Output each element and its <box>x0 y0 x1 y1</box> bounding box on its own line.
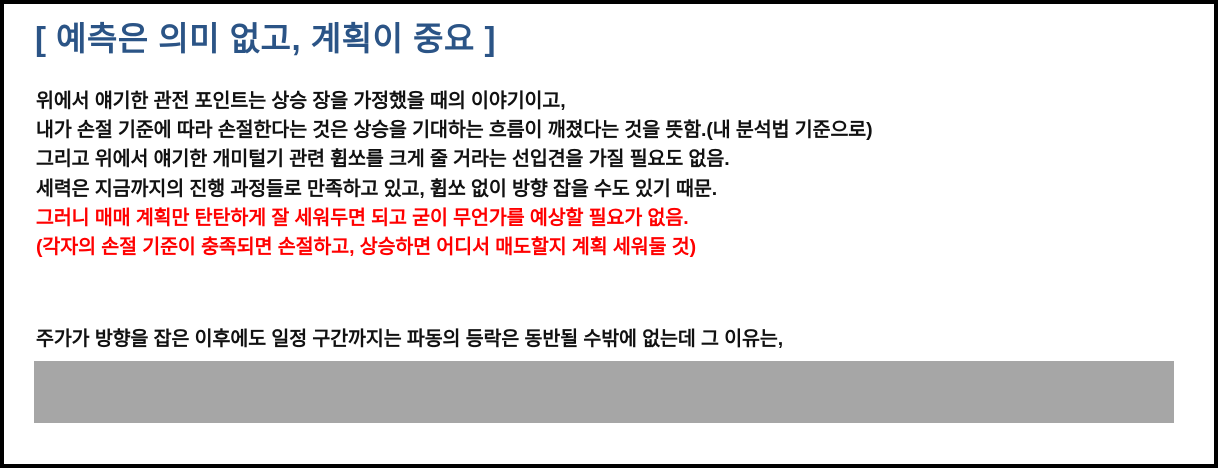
screenshot-frame: [ 예측은 의미 없고, 계획이 중요 ] 위에서 얘기한 관전 포인트는 상승… <box>0 0 1218 468</box>
body-line: 위에서 얘기한 관전 포인트는 상승 장을 가정했을 때의 이야기이고, <box>36 87 1186 116</box>
page-title: [ 예측은 의미 없고, 계획이 중요 ] <box>35 21 496 57</box>
body-line-emphasis: (각자의 손절 기준이 충족되면 손절하고, 상승하면 어디서 매도할지 계획 … <box>36 233 1186 262</box>
closing-line: 주가가 방향을 잡은 이후에도 일정 구간까지는 파동의 등락은 동반될 수밖에… <box>36 324 1186 355</box>
closing-paragraph: 주가가 방향을 잡은 이후에도 일정 구간까지는 파동의 등락은 동반될 수밖에… <box>36 324 1186 355</box>
document-page: [ 예측은 의미 없고, 계획이 중요 ] 위에서 얘기한 관전 포인트는 상승… <box>4 4 1214 464</box>
redacted-content-bar <box>34 361 1174 423</box>
body-line: 그리고 위에서 얘기한 개미털기 관련 휩쏘를 크게 줄 거라는 선입견을 가질… <box>36 145 1186 174</box>
body-line: 내가 손절 기준에 따라 손절한다는 것은 상승을 기대하는 흐름이 깨졌다는 … <box>36 116 1186 145</box>
body-line: 세력은 지금까지의 진행 과정들로 만족하고 있고, 휩쏘 없이 방향 잡을 수… <box>36 175 1186 204</box>
body-paragraph: 위에서 얘기한 관전 포인트는 상승 장을 가정했을 때의 이야기이고, 내가 … <box>36 87 1186 262</box>
body-line-emphasis: 그러니 매매 계획만 탄탄하게 잘 세워두면 되고 굳이 무언가를 예상할 필요… <box>36 204 1186 233</box>
